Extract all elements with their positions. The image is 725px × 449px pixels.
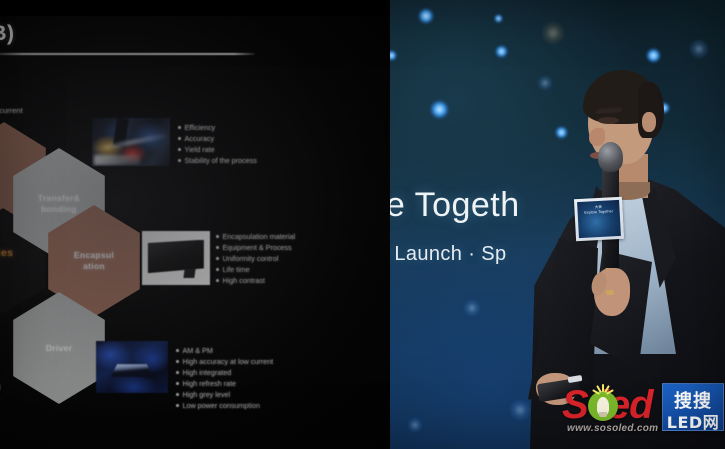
list-item: Low power consumption: [176, 400, 273, 411]
bullet-text: High integrated: [183, 367, 232, 378]
list-item: Life time: [216, 264, 295, 275]
bullet-text: Life time: [223, 264, 250, 275]
hexagon-transfer-label: Transfer&bonding: [34, 193, 84, 215]
hex-transfer-line1: Transfer&: [38, 193, 80, 203]
list-item: High accuracy at low current: [176, 356, 273, 367]
display-panel-stand: [184, 269, 196, 278]
cut-bullet: sign: [0, 394, 1, 406]
bullet-dot-icon: [176, 393, 179, 396]
bullet-dot-icon: [216, 268, 219, 271]
list-item: High integrated: [176, 367, 273, 378]
list-item: High contrast: [216, 275, 295, 286]
list-item: Stability of the process: [178, 155, 257, 166]
slide-title-underline: [0, 53, 255, 55]
bullet-dot-icon: [176, 404, 179, 407]
bullet-text: Yield rate: [185, 144, 215, 155]
lightbulb-base-icon: [599, 412, 607, 417]
hex-transfer-line2: bonding: [41, 204, 77, 214]
bullet-text: Equipment & Process: [223, 242, 292, 253]
bullet-dot-icon: [216, 257, 219, 260]
cut-bullet: rate: [0, 82, 23, 94]
bullet-dot-icon: [176, 360, 179, 363]
equipment-photo-glare: [94, 155, 141, 165]
microphone-head: [598, 142, 623, 172]
bullet-text: High contrast: [223, 275, 265, 286]
display-panel-photo-thumbnail: [142, 231, 210, 285]
technologies-label: ogies: [0, 247, 13, 259]
bullet-dot-icon: [178, 159, 181, 162]
driver-chip-die: [110, 364, 153, 378]
list-item: Equipment & Process: [216, 242, 295, 253]
bullet-text: Uniformity control: [223, 253, 279, 264]
speaker-nose: [589, 128, 605, 146]
bullet-text: Low power consumption: [183, 400, 261, 411]
driver-chip-photo-thumbnail: [96, 341, 168, 393]
bullet-dot-icon: [216, 235, 219, 238]
list-item: Efficiency: [178, 122, 257, 133]
watermark-cn-badge: 搜搜 LED网: [662, 383, 724, 431]
list-item: High refresh rate: [176, 378, 273, 389]
watermark-url: www.sosoled.com: [567, 423, 658, 434]
list-item: Yield rate: [178, 144, 257, 155]
equipment-photo-thumbnail: [92, 118, 170, 166]
bullet-list-driver: AM & PM High accuracy at low current Hig…: [176, 345, 273, 411]
watermark-cn-line2: LED网: [663, 409, 723, 433]
bullet-dot-icon: [178, 148, 181, 151]
bullet-text: AM & PM: [183, 345, 213, 356]
speaker-ear: [642, 112, 656, 132]
bullet-dot-icon: [178, 126, 181, 129]
bullet-dot-icon: [176, 382, 179, 385]
bullet-dot-icon: [216, 246, 219, 249]
watermark: S led www.sosoled.com 搜搜 LED网: [562, 381, 725, 443]
screenshot-root: oB) rate ing low current Transfer&bondin…: [0, 0, 725, 449]
bullet-dot-icon: [178, 137, 181, 140]
slide-cut-top-bullets: rate ing low current: [0, 82, 23, 117]
bullet-text: Encapsulation material: [223, 231, 296, 242]
speaker-eye: [598, 117, 619, 124]
speaker-ring: [606, 290, 614, 295]
bullet-dot-icon: [216, 279, 219, 282]
bullet-text: Stability of the process: [185, 155, 257, 166]
hexagon-driver-label: Driver: [42, 343, 76, 354]
bullet-list-transfer: Efficiency Accuracy Yield rate Stability…: [178, 122, 257, 166]
bullet-dot-icon: [176, 349, 179, 352]
bullet-text: High refresh rate: [183, 378, 237, 389]
bullet-text: Accuracy: [185, 133, 215, 144]
projected-slide-panel: oB) rate ing low current Transfer&bondin…: [0, 0, 390, 449]
list-item: Uniformity control: [216, 253, 295, 264]
slide-cut-bottom-bullets: ntrol sign: [0, 382, 1, 405]
bullet-dot-icon: [176, 371, 179, 374]
cut-bullet: low current: [0, 105, 23, 117]
bullet-text: High grey level: [183, 389, 231, 400]
bullet-text: Efficiency: [185, 122, 216, 133]
cut-bullet: ing: [0, 94, 23, 106]
microphone-flag-badge: 大会 Explore Together: [574, 197, 624, 241]
slide-top-letterbox: [0, 0, 390, 16]
cut-bullet: ntrol: [0, 382, 1, 394]
list-item: Encapsulation material: [216, 231, 295, 242]
hex-encap-line1: Encapsul: [74, 250, 114, 260]
hexagon-encapsulation-label: Encapsulation: [70, 250, 118, 272]
slide-title: oB): [0, 22, 15, 46]
list-item: AM & PM: [176, 345, 273, 356]
hex-encap-line2: ation: [83, 261, 105, 271]
list-item: High grey level: [176, 389, 273, 400]
bullet-list-encapsulation: Encapsulation material Equipment & Proce…: [216, 231, 295, 286]
list-item: Accuracy: [178, 133, 257, 144]
bullet-text: High accuracy at low current: [183, 356, 274, 367]
